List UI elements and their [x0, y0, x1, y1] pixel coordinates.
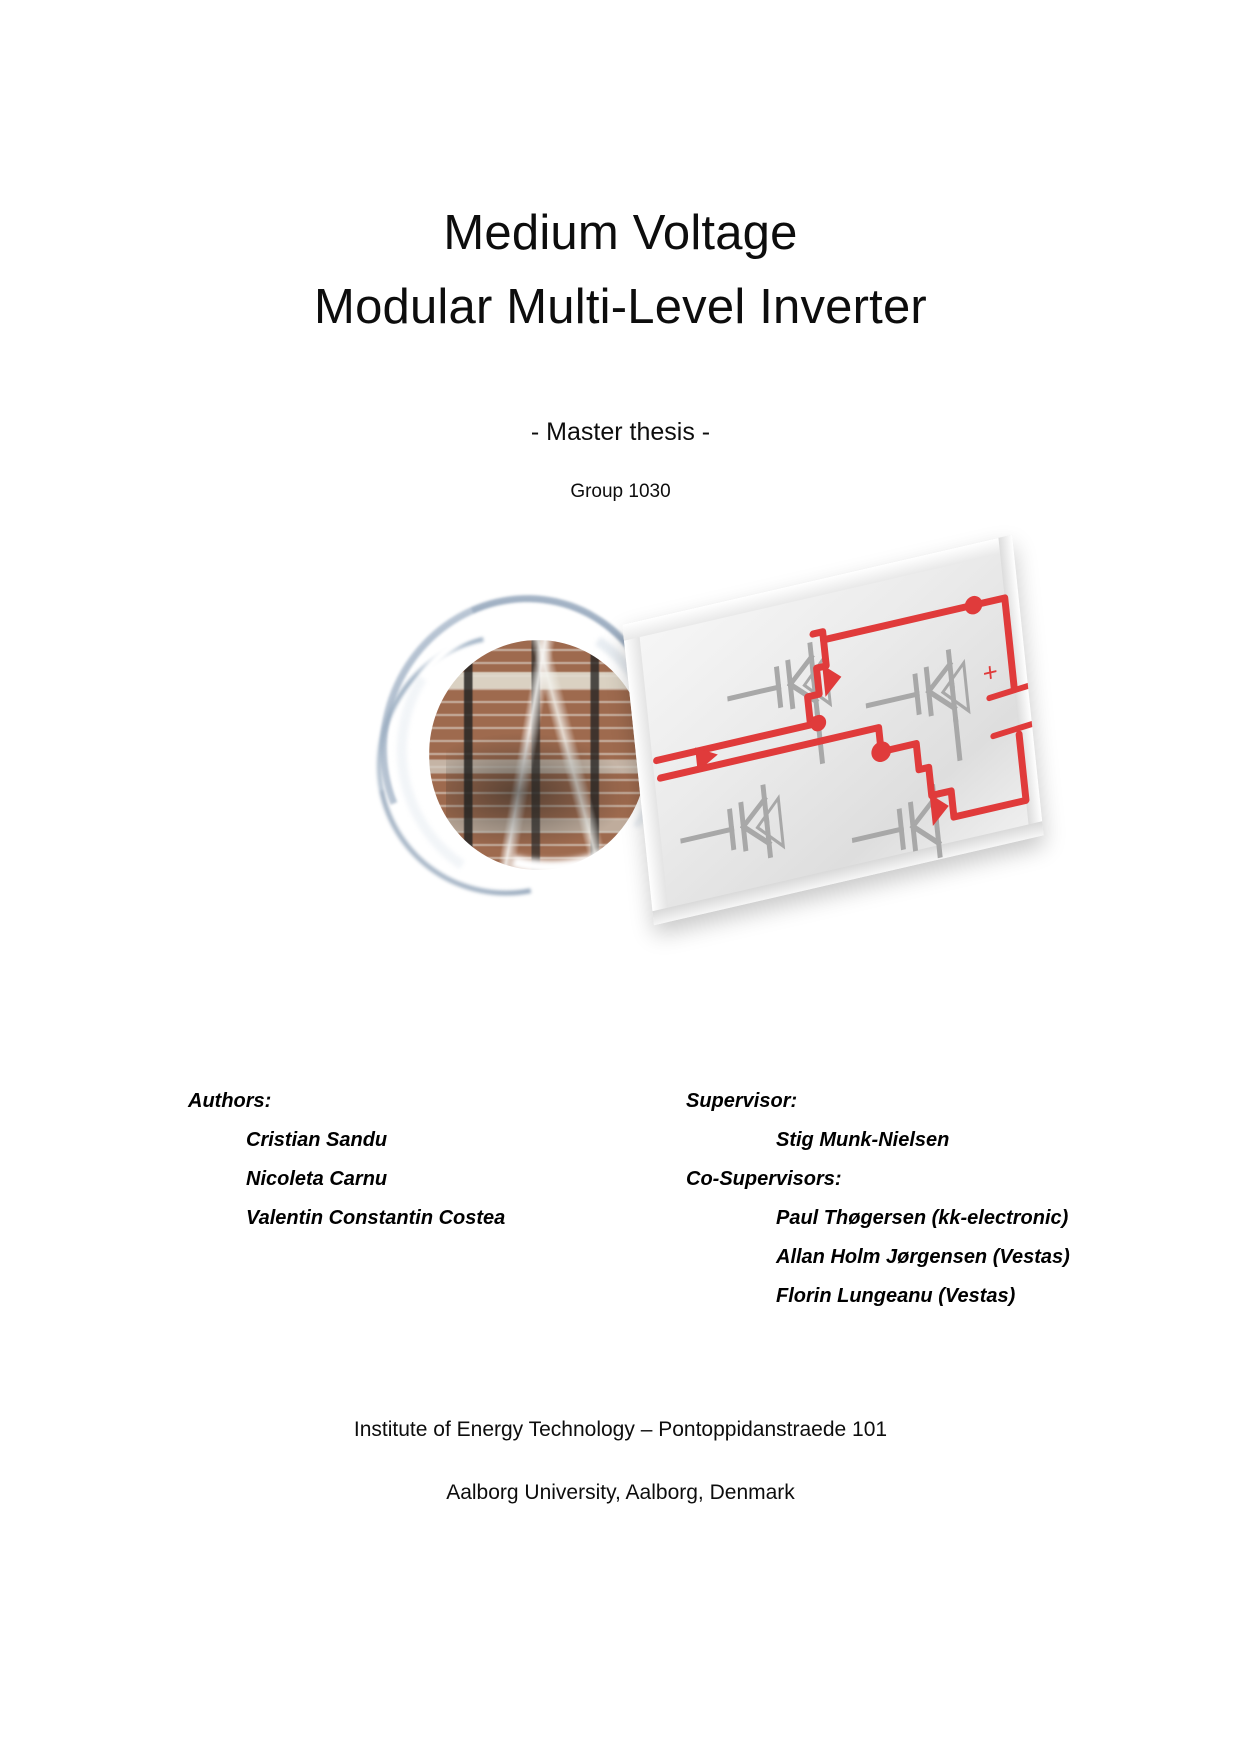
subtitle: - Master thesis - [0, 418, 1241, 447]
author-name: Nicoleta Carnu [188, 1160, 608, 1199]
circuit-board-plane: + [622, 535, 1043, 926]
title-line-1: Medium Voltage [0, 196, 1241, 270]
co-supervisor-name: Allan Holm Jørgensen (Vestas) [686, 1238, 1146, 1277]
title-page: Medium Voltage Modular Multi-Level Inver… [0, 0, 1241, 1755]
supervisor-name: Stig Munk-Nielsen [686, 1121, 1146, 1160]
author-name: Valentin Constantin Costea [188, 1199, 608, 1238]
title-line-2: Modular Multi-Level Inverter [0, 270, 1241, 344]
supervisors-column: Supervisor: Stig Munk-Nielsen Co-Supervi… [686, 1082, 1146, 1316]
group-number: Group 1030 [0, 481, 1241, 503]
supervisor-heading: Supervisor: [686, 1082, 1146, 1121]
authors-heading: Authors: [188, 1082, 608, 1121]
capacitor-polarity-label: + [981, 656, 999, 689]
university-line: Aalborg University, Aalborg, Denmark [0, 1461, 1241, 1524]
authors-column: Authors: Cristian Sandu Nicoleta Carnu V… [188, 1082, 608, 1238]
institution-footer: Institute of Energy Technology – Pontopp… [0, 1398, 1241, 1524]
page-title: Medium Voltage Modular Multi-Level Inver… [0, 196, 1241, 344]
co-supervisor-name: Florin Lungeanu (Vestas) [686, 1277, 1146, 1316]
inverter-schematic-icon: + [622, 535, 1043, 926]
author-name: Cristian Sandu [188, 1121, 608, 1160]
co-supervisor-name: Paul Thøgersen (kk-electronic) [686, 1199, 1146, 1238]
co-supervisors-heading: Co-Supervisors: [686, 1160, 1146, 1199]
institute-line: Institute of Energy Technology – Pontopp… [0, 1398, 1241, 1461]
cover-graphic: + [355, 560, 1075, 930]
